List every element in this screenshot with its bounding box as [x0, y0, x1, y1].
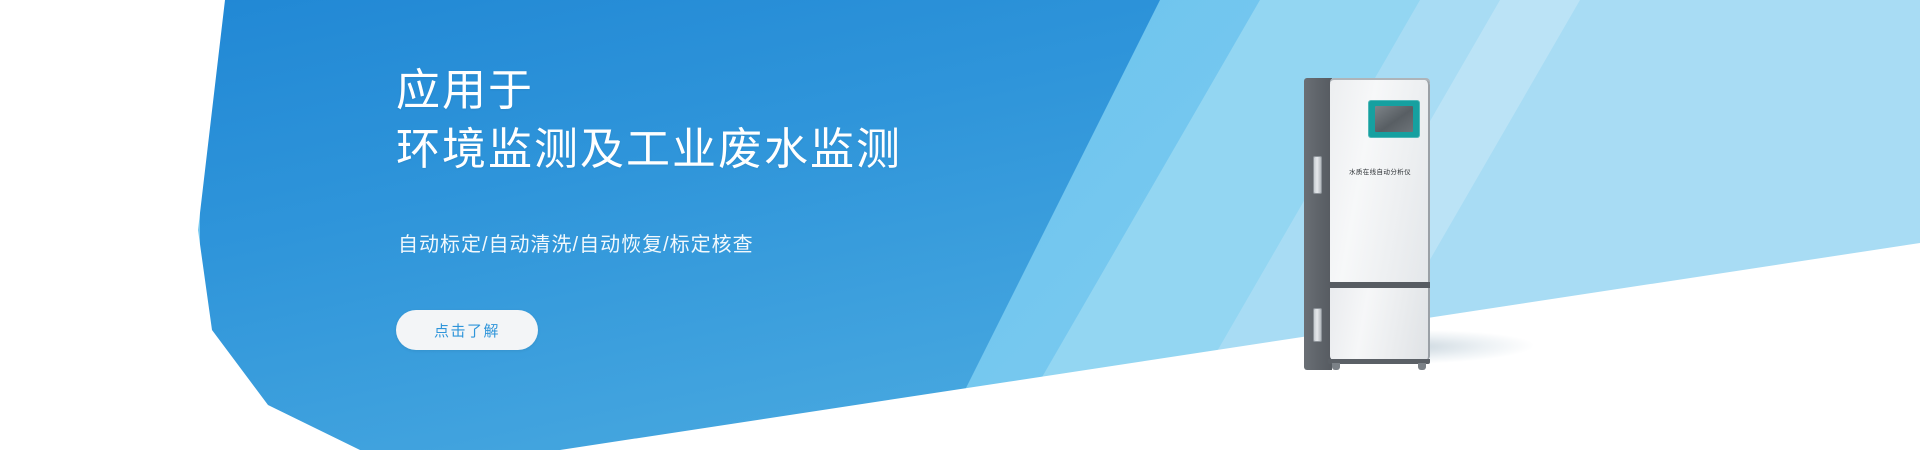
device-handle-upper [1313, 156, 1322, 194]
banner-headline: 应用于 环境监测及工业废水监测 [396, 62, 902, 179]
device-screen [1375, 106, 1413, 132]
banner-subheading: 自动标定/自动清洗/自动恢复/标定核查 [398, 228, 754, 257]
device-base [1328, 359, 1430, 364]
hero-banner: 水质在线自动分析仪 应用于 环境监测及工业废水监测 自动标定/自动清洗/自动恢复… [0, 0, 1920, 450]
learn-more-button[interactable]: 点击了解 [396, 310, 538, 350]
device-handle-lower [1313, 308, 1322, 342]
headline-line-1: 应用于 [396, 62, 902, 121]
device-caption-label: 水质在线自动分析仪 [1334, 166, 1426, 176]
device-caster-right [1418, 363, 1426, 370]
water-quality-analyzer-image: 水质在线自动分析仪 [1304, 78, 1432, 370]
banner-content: 应用于 环境监测及工业废水监测 自动标定/自动清洗/自动恢复/标定核查 点击了解 [396, 0, 1156, 450]
device-caster-left [1332, 363, 1340, 370]
headline-line-2: 环境监测及工业废水监测 [396, 121, 902, 180]
device-lower-drawer [1330, 288, 1430, 360]
device-screen-bezel [1368, 100, 1420, 138]
